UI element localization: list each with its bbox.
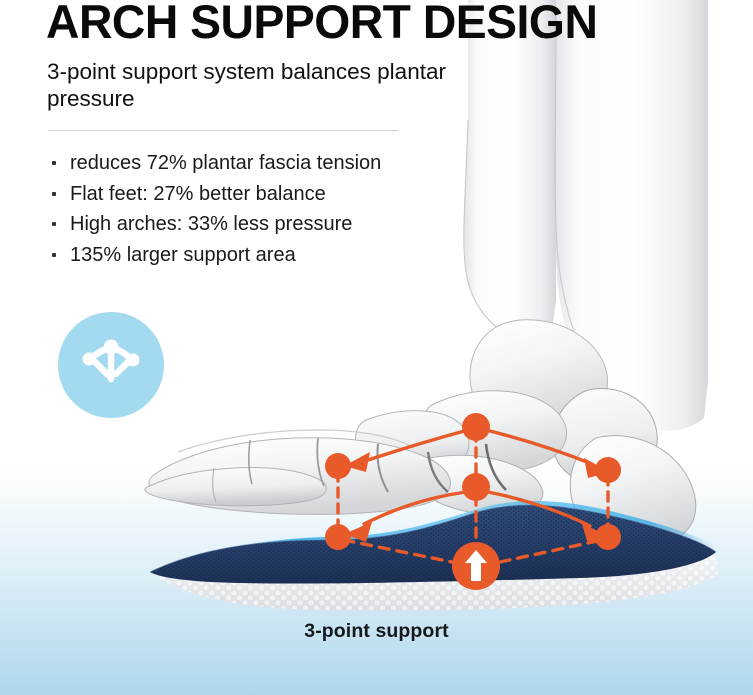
diagram-caption: 3-point support	[0, 620, 753, 643]
benefit-text: Flat feet: 27% better balance	[70, 183, 326, 205]
bullet-icon	[52, 253, 56, 257]
point-forefoot-contact	[325, 524, 351, 550]
page-subtitle: 3-point support system balances plantar …	[47, 58, 477, 112]
benefit-list: reduces 72% plantar fascia tension Flat …	[48, 148, 468, 270]
point-arch-lift	[462, 473, 490, 501]
point-forefoot-upper	[325, 453, 351, 479]
header-divider	[48, 130, 398, 131]
arch-support-icon	[58, 312, 164, 418]
benefit-text: reduces 72% plantar fascia tension	[70, 152, 381, 174]
list-item: Flat feet: 27% better balance	[48, 179, 468, 210]
upward-support-arrow-badge	[452, 542, 500, 590]
bullet-icon	[52, 161, 56, 165]
benefit-text: High arches: 33% less pressure	[70, 213, 352, 235]
page-title: ARCH SUPPORT DESIGN	[46, 0, 597, 48]
point-arch-apex	[462, 413, 490, 441]
infographic-root: ARCH SUPPORT DESIGN 3-point support syst…	[0, 0, 753, 695]
benefit-text: 135% larger support area	[70, 244, 296, 266]
bullet-icon	[52, 192, 56, 196]
arch-support-glyph	[58, 312, 164, 418]
bullet-icon	[52, 222, 56, 226]
list-item: reduces 72% plantar fascia tension	[48, 148, 468, 179]
point-heel-upper	[595, 457, 621, 483]
point-heel-contact	[595, 524, 621, 550]
list-item: High arches: 33% less pressure	[48, 209, 468, 240]
list-item: 135% larger support area	[48, 240, 468, 271]
